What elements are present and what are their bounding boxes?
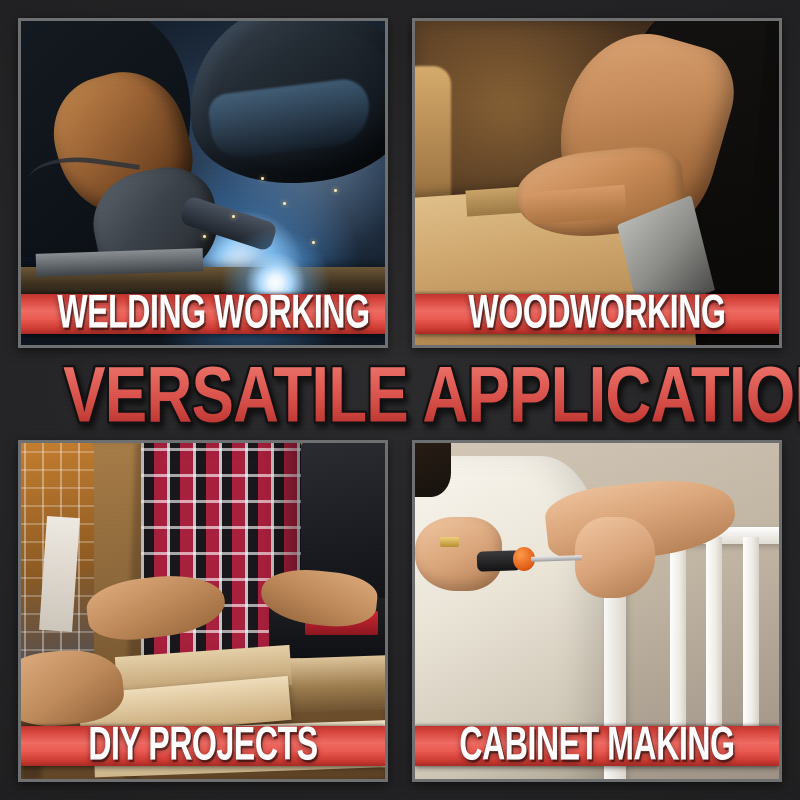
- spark: [261, 177, 264, 180]
- panel-diy-projects[interactable]: DIY PROJECTS: [18, 440, 388, 782]
- cabinet-slat: [670, 537, 686, 745]
- panel-woodworking[interactable]: WOODWORKING: [412, 18, 782, 348]
- label-banner-woodworking: WOODWORKING: [415, 294, 779, 334]
- versatile-application-poster: WELDING WORKING WOODWORKING VERSATILE AP…: [0, 0, 800, 800]
- panel-label-diy: DIY PROJECTS: [57, 721, 348, 768]
- label-banner-diy: DIY PROJECTS: [21, 726, 385, 766]
- label-banner-welding: WELDING WORKING: [21, 294, 385, 334]
- page-title: VERSATILE APPLICATION: [0, 358, 800, 434]
- wedding-ring: [440, 537, 458, 547]
- panel-label-welding: WELDING WORKING: [57, 289, 348, 336]
- worker-hand-right: [575, 517, 655, 598]
- panel-label-cabinet: CABINET MAKING: [451, 721, 742, 768]
- panel-cabinet-making[interactable]: CABINET MAKING: [412, 440, 782, 782]
- headline-text: VERSATILE APPLICATION: [63, 356, 800, 434]
- screwdriver-shaft-icon: [531, 555, 582, 562]
- cabinet-slat: [743, 537, 759, 745]
- cabinet-slat: [706, 537, 722, 745]
- head-hair: [415, 443, 451, 497]
- panel-label-woodworking: WOODWORKING: [451, 289, 742, 336]
- spark: [203, 235, 206, 238]
- label-banner-cabinet: CABINET MAKING: [415, 726, 779, 766]
- panel-welding[interactable]: WELDING WORKING: [18, 18, 388, 348]
